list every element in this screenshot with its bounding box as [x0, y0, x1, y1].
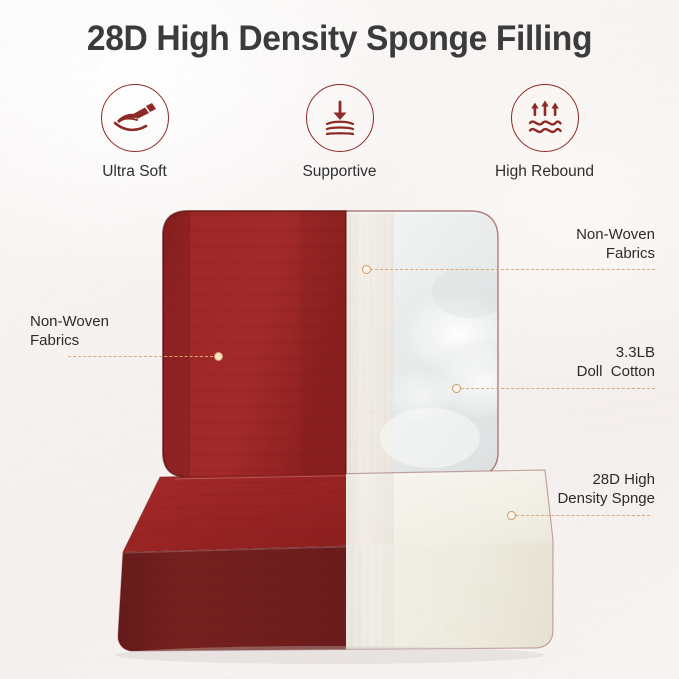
callout-line-2: Doll Cotton	[498, 362, 655, 381]
feature-list: Ultra Soft Supportive	[0, 84, 679, 181]
callout-line-2: Fabrics	[30, 331, 210, 350]
callout-marker-dot	[507, 511, 516, 520]
callout-non-woven-fabrics-right: Non-Woven Fabrics	[500, 225, 655, 263]
infographic-canvas: 28D High Density Sponge Filling Ultra So…	[0, 0, 679, 679]
feature-label: Ultra Soft	[102, 163, 167, 181]
hand-soft-icon	[101, 84, 169, 152]
feature-ultra-soft: Ultra Soft	[72, 84, 197, 181]
callout-marker-dot	[362, 265, 371, 274]
callout-non-woven-fabrics-left: Non-Woven Fabrics	[30, 312, 210, 350]
callout-line-2: Density Spnge	[495, 489, 655, 508]
page-title: 28D High Density Sponge Filling	[14, 18, 666, 60]
callout-line-1: Non-Woven	[30, 312, 210, 331]
callout-line-2: Fabrics	[500, 244, 655, 263]
callout-leader-line	[370, 269, 655, 270]
callout-marker-dot	[214, 352, 223, 361]
callout-line-1: 3.3LB	[498, 343, 655, 362]
feature-label: High Rebound	[495, 163, 594, 181]
callout-doll-cotton: 3.3LB Doll Cotton	[498, 343, 655, 381]
feature-label: Supportive	[302, 163, 376, 181]
callout-line-1: 28D High	[495, 470, 655, 489]
arrows-up-waves-icon	[511, 84, 579, 152]
cushion-shadow	[115, 646, 545, 664]
feature-supportive: Supportive	[277, 84, 402, 181]
callout-leader-line	[461, 388, 655, 389]
callout-line-1: Non-Woven	[500, 225, 655, 244]
arrow-down-layers-icon	[306, 84, 374, 152]
feature-high-rebound: High Rebound	[482, 84, 607, 181]
callout-marker-dot	[452, 384, 461, 393]
callout-leader-line	[68, 356, 218, 357]
callout-high-density-sponge: 28D High Density Spnge	[495, 470, 655, 508]
callout-leader-line	[516, 515, 650, 516]
